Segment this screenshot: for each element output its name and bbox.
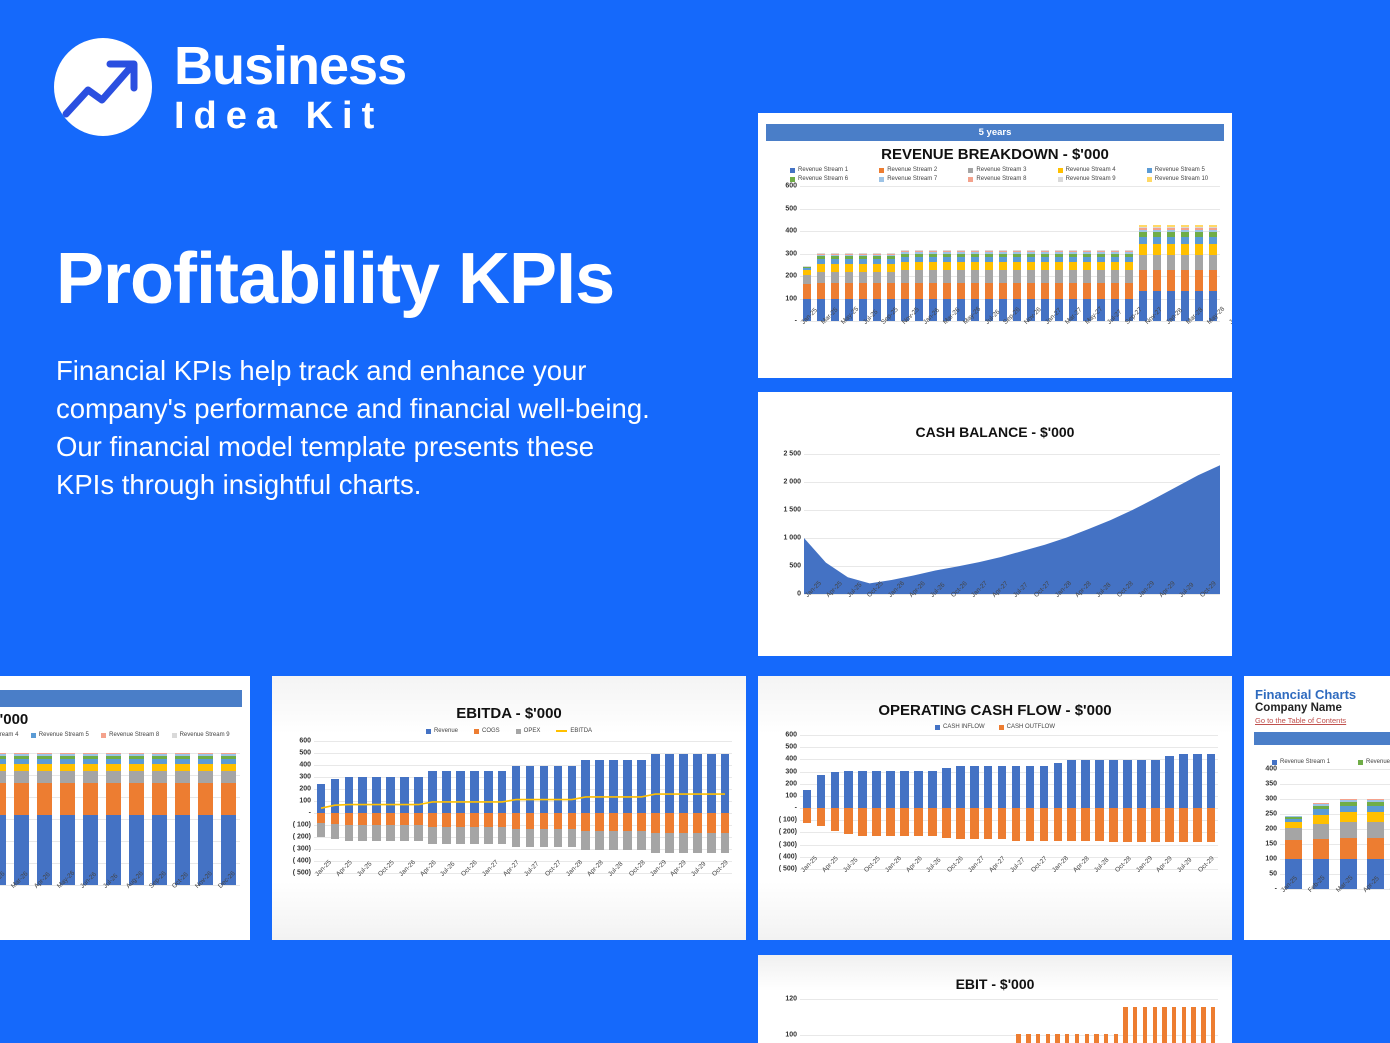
bar-segment bbox=[60, 764, 74, 771]
bar-segment bbox=[1195, 237, 1204, 244]
bar-column bbox=[912, 735, 926, 869]
chart-plot-area: 12010080 bbox=[800, 999, 1218, 1043]
bar-segment bbox=[1367, 806, 1384, 813]
bar-column bbox=[839, 999, 849, 1043]
financial-charts-card[interactable]: Financial Charts Company Name Go to the … bbox=[1244, 676, 1390, 940]
period-band bbox=[1254, 732, 1390, 745]
bar-segment bbox=[1012, 808, 1021, 841]
bar-segment bbox=[985, 270, 994, 282]
legend-label: Revenue Stream 8 bbox=[109, 732, 159, 738]
y-axis-label: ( 300) bbox=[779, 841, 797, 848]
bar-column bbox=[56, 753, 79, 885]
bar-segment bbox=[957, 262, 966, 270]
chart-legend: RevenueCOGSOPEXEBITDA bbox=[272, 728, 746, 734]
bar-segment bbox=[901, 283, 910, 299]
legend-item: Revenue Stream 5 bbox=[31, 732, 101, 738]
bar-segment bbox=[1137, 808, 1146, 842]
legend-item: CASH INFLOW bbox=[935, 724, 985, 730]
legend-label: Revenue Stream 8 bbox=[976, 176, 1026, 182]
bar-column bbox=[1148, 735, 1162, 869]
bar-segment bbox=[1026, 808, 1035, 841]
bar-segment bbox=[1201, 1007, 1205, 1043]
bar-segment bbox=[1111, 262, 1120, 270]
y-axis-label: 300 bbox=[785, 250, 797, 257]
bar-segment bbox=[129, 764, 143, 771]
bar-segment bbox=[106, 764, 120, 771]
legend-item: Revenue Stream 3 bbox=[950, 167, 1039, 173]
bar-segment bbox=[817, 775, 826, 808]
bar-column bbox=[1094, 186, 1108, 321]
x-axis: Jan-25Apr-25Jul-25Oct-25Jan-26Apr-26Jul-… bbox=[804, 594, 1220, 601]
bar-series bbox=[800, 186, 1220, 321]
bar-column bbox=[1093, 735, 1107, 869]
legend-item: Revenue Stream 8 bbox=[101, 732, 171, 738]
bar-segment bbox=[999, 283, 1008, 299]
chart-title: EBIT - $'000 bbox=[758, 976, 1232, 992]
bar-column bbox=[1206, 186, 1220, 321]
bar-column bbox=[1362, 769, 1389, 889]
bar-segment bbox=[817, 283, 826, 298]
bar-segment bbox=[831, 264, 840, 272]
bar-segment bbox=[1081, 808, 1090, 841]
bar-segment bbox=[221, 764, 235, 771]
y-axis-label: 250 bbox=[1265, 811, 1277, 818]
bar-column bbox=[1140, 999, 1150, 1043]
bar-segment bbox=[1097, 283, 1106, 299]
bar-column bbox=[954, 186, 968, 321]
bar-segment bbox=[0, 783, 6, 815]
bar-column bbox=[967, 735, 981, 869]
bar-segment bbox=[1162, 1007, 1166, 1043]
bar-segment bbox=[844, 771, 853, 808]
legend-swatch bbox=[516, 729, 521, 734]
bar-segment bbox=[942, 768, 951, 808]
bar-column bbox=[1121, 999, 1131, 1043]
bar-column bbox=[1192, 186, 1206, 321]
bar-column bbox=[897, 999, 907, 1043]
bar-segment bbox=[1067, 808, 1076, 841]
y-axis-label: 500 bbox=[785, 205, 797, 212]
legend-swatch bbox=[879, 168, 884, 173]
bar-segment bbox=[1109, 808, 1118, 842]
bar-segment bbox=[1111, 270, 1120, 282]
bar-segment bbox=[942, 808, 951, 838]
bar-segment bbox=[1285, 840, 1302, 859]
legend-item: Revenue Stream 5 bbox=[1129, 167, 1218, 173]
legend-item: Revenue Stream 2 bbox=[861, 167, 950, 173]
bar-column bbox=[868, 999, 878, 1043]
bar-column bbox=[10, 753, 33, 885]
legend-label: Revenue Stream 1 bbox=[1280, 759, 1330, 765]
bar-column bbox=[1198, 999, 1208, 1043]
company-name: Company Name bbox=[1255, 702, 1390, 714]
bar-segment bbox=[928, 808, 937, 836]
bar-column bbox=[884, 735, 898, 869]
x-axis: Jan-25Mar-25May-25Jul-25Sep-25Nov-25Jan-… bbox=[800, 321, 1220, 328]
legend-swatch bbox=[790, 168, 795, 173]
bar-segment bbox=[1075, 1034, 1079, 1043]
legend-swatch bbox=[1058, 177, 1063, 182]
y-axis-label: 400 bbox=[785, 756, 797, 763]
bar-column bbox=[1066, 186, 1080, 321]
bar-segment bbox=[957, 270, 966, 282]
bar-column bbox=[1004, 999, 1014, 1043]
y-axis-label: 100 bbox=[785, 792, 797, 799]
bar-segment bbox=[1055, 270, 1064, 282]
bar-segment bbox=[1195, 270, 1204, 290]
period-band-24-months: 24 months bbox=[0, 690, 242, 707]
bar-column bbox=[995, 735, 1009, 869]
y-axis-label: 200 bbox=[1265, 826, 1277, 833]
bar-series bbox=[800, 735, 1218, 869]
bar-column bbox=[1065, 735, 1079, 869]
bar-segment bbox=[1069, 262, 1078, 270]
legend-swatch bbox=[426, 729, 431, 734]
bar-segment bbox=[1209, 255, 1218, 271]
bar-segment bbox=[1067, 760, 1076, 808]
bar-segment bbox=[1340, 822, 1357, 838]
bar-segment bbox=[221, 771, 235, 783]
y-axis-label: 500 bbox=[299, 750, 311, 757]
y-axis-label: 120 bbox=[785, 996, 797, 1003]
operating-cash-flow-card[interactable]: OPERATING CASH FLOW - $'000 CASH INFLOWC… bbox=[758, 676, 1232, 940]
bar-segment bbox=[1181, 255, 1190, 271]
bar-segment bbox=[37, 764, 51, 771]
chart-title: REAKDOWN - $'000 bbox=[0, 711, 250, 728]
y-axis-label: 350 bbox=[1265, 781, 1277, 788]
bar-segment bbox=[1153, 255, 1162, 271]
bar-column bbox=[1335, 769, 1362, 889]
y-axis-label: 400 bbox=[1265, 766, 1277, 773]
legend-swatch bbox=[968, 177, 973, 182]
bar-segment bbox=[803, 284, 812, 299]
legend-label: OPEX bbox=[524, 728, 541, 734]
bar-segment bbox=[985, 262, 994, 270]
revenue-breakdown-5y-card[interactable]: 5 years REVENUE BREAKDOWN - $'000 Revenu… bbox=[758, 113, 1232, 378]
bar-segment bbox=[803, 790, 812, 808]
chart-plot-area: 40035030025020015010050-Jan-25Feb-25Mar-… bbox=[1280, 769, 1390, 889]
legend-item: Revenue Stream 4 bbox=[0, 732, 31, 738]
bar-segment bbox=[1209, 244, 1218, 254]
bar-segment bbox=[859, 264, 868, 272]
bar-column bbox=[1108, 186, 1122, 321]
legend-swatch bbox=[790, 177, 795, 182]
y-axis-label: 100 bbox=[1265, 856, 1277, 863]
bar-segment bbox=[985, 283, 994, 299]
bar-segment bbox=[901, 262, 910, 270]
chart-title: CASH BALANCE - $'000 bbox=[758, 424, 1232, 440]
ebitda-card[interactable]: EBITDA - $'000 RevenueCOGSOPEXEBITDA 600… bbox=[272, 676, 746, 940]
brand-name-line1: Business bbox=[174, 39, 406, 93]
bar-column bbox=[800, 999, 810, 1043]
bar-segment bbox=[859, 272, 868, 284]
bar-segment bbox=[1153, 270, 1162, 290]
legend-swatch bbox=[556, 730, 567, 732]
bar-segment bbox=[873, 272, 882, 284]
legend-swatch bbox=[474, 729, 479, 734]
bar-segment bbox=[1211, 1007, 1215, 1043]
y-axis-label: 300 bbox=[299, 774, 311, 781]
x-axis: Jan-25Apr-25Jul-25Oct-25Jan-26Apr-26Jul-… bbox=[800, 869, 1218, 876]
bar-segment bbox=[887, 283, 896, 298]
bar-segment bbox=[198, 771, 212, 783]
legend-item: Revenue Stream 9 bbox=[1040, 176, 1129, 182]
legend-swatch bbox=[1272, 760, 1277, 765]
y-axis-label: 500 bbox=[785, 744, 797, 751]
chart-plot-area: 600500400300200100-( 100)( 200)( 300)( 4… bbox=[314, 741, 732, 873]
legend-item: Revenue bbox=[426, 728, 458, 734]
legend-label: Revenue Stream 4 bbox=[0, 732, 18, 738]
bar-segment bbox=[175, 764, 189, 771]
bar-column bbox=[1037, 735, 1051, 869]
bar-segment bbox=[1182, 1007, 1186, 1043]
bar-column bbox=[1080, 186, 1094, 321]
bar-segment bbox=[221, 783, 235, 815]
bar-segment bbox=[1139, 270, 1148, 290]
chart-title: OPERATING CASH FLOW - $'000 bbox=[758, 702, 1232, 719]
bar-segment bbox=[1040, 808, 1049, 841]
legend-swatch bbox=[879, 177, 884, 182]
bar-column bbox=[936, 999, 946, 1043]
bar-column bbox=[1178, 186, 1192, 321]
y-axis-label: ( 200) bbox=[779, 829, 797, 836]
bar-segment bbox=[984, 808, 993, 839]
bar-segment bbox=[803, 808, 812, 823]
bar-segment bbox=[1104, 1034, 1108, 1043]
bar-segment bbox=[1207, 754, 1216, 808]
bar-segment bbox=[1195, 255, 1204, 271]
bar-segment bbox=[1013, 270, 1022, 282]
bar-column bbox=[842, 735, 856, 869]
bar-segment bbox=[831, 272, 840, 284]
bar-segment bbox=[14, 771, 28, 783]
legend-item: Revenue Stream 1 bbox=[772, 167, 861, 173]
bar-segment bbox=[1181, 244, 1190, 254]
bar-segment bbox=[858, 771, 867, 808]
bar-segment bbox=[1083, 262, 1092, 270]
chart-plot-area: 600500400300200100-( 100)( 200)( 300)( 4… bbox=[800, 735, 1218, 869]
bar-segment bbox=[929, 262, 938, 270]
bar-segment bbox=[1055, 283, 1064, 299]
bar-segment bbox=[37, 783, 51, 815]
bar-column bbox=[870, 186, 884, 321]
bar-segment bbox=[845, 283, 854, 298]
bar-column bbox=[884, 186, 898, 321]
bar-segment bbox=[915, 270, 924, 282]
bar-segment bbox=[1172, 1007, 1176, 1043]
legend-label: Revenue Stream 1 bbox=[798, 167, 848, 173]
bar-segment bbox=[1036, 1034, 1040, 1043]
bar-column bbox=[956, 999, 966, 1043]
bar-column bbox=[79, 753, 102, 885]
revenue-breakdown-24m-card[interactable]: 24 months REAKDOWN - $'000 Revenue Strea… bbox=[0, 676, 250, 940]
bar-column bbox=[1023, 735, 1037, 869]
bar-segment bbox=[83, 783, 97, 815]
bar-segment bbox=[83, 771, 97, 783]
financial-charts-heading: Financial Charts bbox=[1255, 687, 1390, 702]
bar-segment bbox=[928, 771, 937, 808]
y-axis-label: 200 bbox=[785, 273, 797, 280]
bar-segment bbox=[1367, 812, 1384, 822]
legend-label: Revenue Stream 10 bbox=[1155, 176, 1208, 182]
bar-column bbox=[1130, 999, 1140, 1043]
bar-segment bbox=[1054, 808, 1063, 841]
bar-segment bbox=[817, 264, 826, 272]
bar-segment bbox=[970, 766, 979, 808]
bar-segment bbox=[999, 270, 1008, 282]
brand-name-line2: Idea Kit bbox=[174, 97, 406, 135]
bar-segment bbox=[106, 771, 120, 783]
bar-segment bbox=[1041, 283, 1050, 299]
bar-segment bbox=[859, 283, 868, 298]
legend-label: Revenue Stream 9 bbox=[180, 732, 230, 738]
bar-column bbox=[1208, 999, 1218, 1043]
bar-column bbox=[810, 999, 820, 1043]
bar-column bbox=[981, 735, 995, 869]
bar-column bbox=[1092, 999, 1102, 1043]
bar-segment bbox=[844, 808, 853, 834]
bar-column bbox=[1024, 999, 1034, 1043]
bar-column bbox=[1121, 735, 1135, 869]
y-axis-label: - bbox=[795, 805, 797, 812]
bar-column bbox=[102, 753, 125, 885]
bar-column bbox=[898, 735, 912, 869]
chart-legend: Revenue Stream 1Revenue Stream 2Revenue … bbox=[772, 167, 1218, 182]
bar-segment bbox=[1151, 808, 1160, 842]
bar-column bbox=[1038, 186, 1052, 321]
bar-segment bbox=[1114, 1034, 1118, 1043]
bar-segment bbox=[971, 283, 980, 299]
bar-segment bbox=[803, 275, 812, 284]
y-axis-label: ( 300) bbox=[293, 846, 311, 853]
ebitda-line bbox=[314, 741, 732, 873]
bar-column bbox=[849, 999, 859, 1043]
bar-segment bbox=[914, 808, 923, 836]
cash-balance-card[interactable]: CASH BALANCE - $'000 2 5002 0001 5001 00… bbox=[758, 392, 1232, 656]
bar-segment bbox=[915, 262, 924, 270]
bar-segment bbox=[1012, 766, 1021, 808]
bar-segment bbox=[1097, 262, 1106, 270]
bar-column bbox=[1190, 735, 1204, 869]
bar-segment bbox=[1027, 283, 1036, 299]
y-axis-label: - bbox=[795, 318, 797, 325]
bar-column bbox=[917, 999, 927, 1043]
bar-segment bbox=[845, 272, 854, 284]
bar-column bbox=[1053, 999, 1063, 1043]
brand-logo: Business Idea Kit bbox=[54, 38, 406, 136]
bar-segment bbox=[1137, 760, 1146, 808]
bar-column bbox=[1043, 999, 1053, 1043]
bar-segment bbox=[957, 283, 966, 299]
y-axis-label: 100 bbox=[785, 1032, 797, 1039]
bar-segment bbox=[943, 283, 952, 299]
y-axis-label: ( 500) bbox=[779, 866, 797, 873]
chart-title: EBITDA - $'000 bbox=[272, 705, 746, 722]
legend-swatch bbox=[31, 733, 36, 738]
bar-column bbox=[1136, 186, 1150, 321]
bar-segment bbox=[175, 771, 189, 783]
bar-segment bbox=[873, 283, 882, 298]
bar-column bbox=[925, 735, 939, 869]
legend-label: EBITDA bbox=[570, 728, 592, 734]
legend-item: EBITDA bbox=[556, 728, 592, 734]
bar-column bbox=[940, 186, 954, 321]
legend-item: Revenue Stream 8 bbox=[950, 176, 1039, 182]
bar-segment bbox=[1055, 262, 1064, 270]
bar-segment bbox=[998, 808, 1007, 839]
bar-column bbox=[148, 753, 171, 885]
bar-segment bbox=[129, 783, 143, 815]
y-axis-label: 400 bbox=[785, 228, 797, 235]
bar-segment bbox=[1179, 754, 1188, 808]
table-of-contents-link[interactable]: Go to the Table of Contents bbox=[1255, 716, 1390, 725]
y-axis-label: 200 bbox=[785, 780, 797, 787]
chart-legend: Revenue Stream 3Revenue Stream 4Revenue … bbox=[0, 732, 242, 747]
cash-balance-area bbox=[804, 454, 1220, 594]
bar-segment bbox=[1055, 1034, 1059, 1043]
bar-column bbox=[968, 186, 982, 321]
chart-plot-area: 2 5002 0001 5001 0005000Jan-25Apr-25Jul-… bbox=[804, 454, 1220, 594]
bar-segment bbox=[886, 771, 895, 808]
bar-segment bbox=[929, 270, 938, 282]
bar-segment bbox=[152, 764, 166, 771]
bar-segment bbox=[915, 283, 924, 299]
bar-column bbox=[1160, 999, 1170, 1043]
bar-segment bbox=[1123, 808, 1132, 842]
bar-column bbox=[856, 735, 870, 869]
legend-swatch bbox=[1147, 168, 1152, 173]
bar-column bbox=[912, 186, 926, 321]
bar-column bbox=[1062, 999, 1072, 1043]
chart-legend: CASH INFLOWCASH OUTFLOW bbox=[758, 724, 1232, 730]
bar-segment bbox=[1041, 270, 1050, 282]
bar-column bbox=[814, 186, 828, 321]
bar-segment bbox=[872, 771, 881, 808]
bar-segment bbox=[1340, 838, 1357, 859]
bar-segment bbox=[817, 272, 826, 284]
bar-column bbox=[1010, 186, 1024, 321]
chart-plot-area: 600500400300200100-Jan-25Mar-25May-25Jul… bbox=[800, 186, 1220, 321]
y-axis-label: ( 500) bbox=[293, 870, 311, 877]
bar-column bbox=[125, 753, 148, 885]
bar-column bbox=[975, 999, 985, 1043]
bar-column bbox=[1072, 999, 1082, 1043]
bar-segment bbox=[1179, 808, 1188, 842]
y-axis-label: ( 400) bbox=[779, 853, 797, 860]
x-axis: Oct-25Dec-25Jan-26Feb-26Mar-26Apr-26May-… bbox=[0, 885, 240, 892]
bar-segment bbox=[956, 766, 965, 808]
bar-column bbox=[1176, 735, 1190, 869]
period-band-5-years: 5 years bbox=[766, 124, 1224, 141]
legend-item: Revenue Stream 9 bbox=[172, 732, 242, 738]
ebit-card[interactable]: EBIT - $'000 12010080 bbox=[758, 955, 1232, 1043]
bar-column bbox=[1082, 999, 1092, 1043]
y-axis-label: 600 bbox=[785, 183, 797, 190]
bar-segment bbox=[1195, 244, 1204, 254]
bar-segment bbox=[1151, 760, 1160, 808]
bar-column bbox=[194, 753, 217, 885]
bar-segment bbox=[1285, 828, 1302, 840]
bar-series bbox=[0, 753, 240, 885]
bar-segment bbox=[1167, 270, 1176, 290]
y-axis-label: 100 bbox=[299, 798, 311, 805]
bar-segment bbox=[1193, 808, 1202, 842]
bar-segment bbox=[1165, 756, 1174, 808]
x-axis: Jan-25Apr-25Jul-25Oct-25Jan-26Apr-26Jul-… bbox=[314, 873, 732, 880]
bar-segment bbox=[1139, 237, 1148, 244]
bar-column bbox=[856, 186, 870, 321]
legend-swatch bbox=[935, 725, 940, 730]
